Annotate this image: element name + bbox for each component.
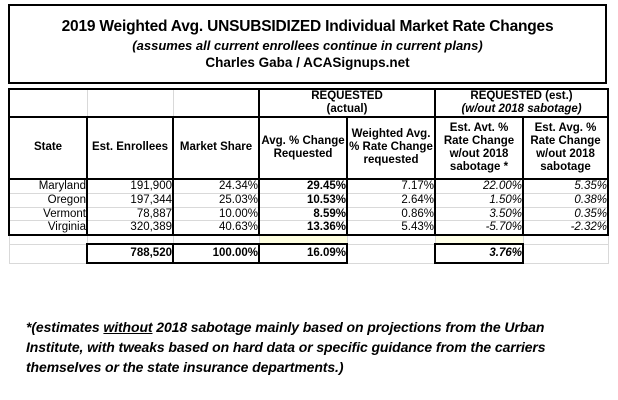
cell-state: Oregon [9,193,87,207]
cell-market-share: 25.03% [173,193,259,207]
table-row: Maryland 191,900 24.34% 29.45% 7.17% 22.… [9,179,608,193]
table-row: Oregon 197,344 25.03% 10.53% 2.64% 1.50%… [9,193,608,207]
total-market-share: 100.00% [173,244,259,263]
cell-weighted-avg-requested: 0.86% [347,207,435,221]
column-header-avg-change-requested: Avg. % Change Requested [259,117,347,179]
total-avg-change-requested: 16.09% [259,244,347,263]
column-header-est-avg-change-wo-sabotage: Est. Avg. % Rate Change w/out 2018 sabot… [523,117,608,179]
spacer-cell [259,235,347,244]
group-header-requested-est: REQUESTED (est.) (w/out 2018 sabotage) [435,89,608,117]
spacer-cell [173,235,259,244]
cell-market-share: 10.00% [173,207,259,221]
cell-est-avg-change-wo-sabotage: 0.35% [523,207,608,221]
group-header-spacer-share [173,89,259,117]
cell-est-avg-change-wo-sabotage: 0.38% [523,193,608,207]
spreadsheet-page: 2019 Weighted Avg. UNSUBSIDIZED Individu… [0,0,618,400]
group-header-requested-actual-label: REQUESTED [260,90,434,103]
total-state [9,244,87,263]
spacer-cell [87,235,173,244]
spacer-cell [347,235,435,244]
group-header-requested-actual: REQUESTED (actual) [259,89,435,117]
table-totals-row: 788,520 100.00% 16.09% 3.76% [9,244,608,263]
footnote-underlined-word: without [103,319,152,335]
cell-state: Virginia [9,221,87,235]
column-header-weighted-avg-requested: Weighted Avg. % Rate Change requested [347,117,435,179]
cell-avg-change-requested: 13.36% [259,221,347,235]
cell-enrollees: 320,389 [87,221,173,235]
cell-est-avg-change-wo-sabotage: 5.35% [523,179,608,193]
cell-est-change-wo-sabotage: 1.50% [435,193,523,207]
column-header-state: State [9,117,87,179]
table-row: Virginia 320,389 40.63% 13.36% 5.43% -5.… [9,221,608,235]
cell-weighted-avg-requested: 2.64% [347,193,435,207]
footnote: *(estimates without 2018 sabotage mainly… [26,318,604,378]
cell-enrollees: 78,887 [87,207,173,221]
total-enrollees: 788,520 [87,244,173,263]
table-spacer-row [9,235,608,244]
column-header-enrollees: Est. Enrollees [87,117,173,179]
table-column-header-row: State Est. Enrollees Market Share Avg. %… [9,117,608,179]
table-row: Vermont 78,887 10.00% 8.59% 0.86% 3.50% … [9,207,608,221]
spacer-cell [523,235,608,244]
title-block: 2019 Weighted Avg. UNSUBSIDIZED Individu… [8,4,607,84]
table-group-header-row: REQUESTED (actual) REQUESTED (est.) (w/o… [9,89,608,117]
total-est-change-wo-sabotage: 3.76% [435,244,523,263]
cell-enrollees: 197,344 [87,193,173,207]
rate-change-table: REQUESTED (actual) REQUESTED (est.) (w/o… [8,88,609,264]
page-title: 2019 Weighted Avg. UNSUBSIDIZED Individu… [62,18,554,36]
cell-est-change-wo-sabotage: -5.70% [435,221,523,235]
group-header-requested-est-sub: (w/out 2018 sabotage) [436,103,607,116]
title-attribution: Charles Gaba / ACASignups.net [205,55,409,70]
spacer-cell [435,235,523,244]
spacer-cell [9,235,87,244]
group-header-requested-est-label: REQUESTED (est.) [436,90,607,103]
cell-enrollees: 191,900 [87,179,173,193]
cell-market-share: 40.63% [173,221,259,235]
cell-est-change-wo-sabotage: 3.50% [435,207,523,221]
group-header-requested-actual-sub: (actual) [260,103,434,116]
column-header-est-change-wo-sabotage: Est. Avt. % Rate Change w/out 2018 sabot… [435,117,523,179]
title-subtitle: (assumes all current enrollees continue … [132,38,482,53]
column-header-market-share: Market Share [173,117,259,179]
cell-state: Vermont [9,207,87,221]
cell-weighted-avg-requested: 5.43% [347,221,435,235]
cell-avg-change-requested: 29.45% [259,179,347,193]
cell-weighted-avg-requested: 7.17% [347,179,435,193]
footnote-part1: *(estimates [26,319,103,335]
cell-est-avg-change-wo-sabotage: -2.32% [523,221,608,235]
cell-market-share: 24.34% [173,179,259,193]
group-header-spacer-enrollees [87,89,173,117]
cell-est-change-wo-sabotage: 22.00% [435,179,523,193]
cell-avg-change-requested: 8.59% [259,207,347,221]
cell-avg-change-requested: 10.53% [259,193,347,207]
total-est-avg-change-wo-sabotage [523,244,608,263]
total-weighted-avg-requested [347,244,435,263]
group-header-spacer-state [9,89,87,117]
cell-state: Maryland [9,179,87,193]
